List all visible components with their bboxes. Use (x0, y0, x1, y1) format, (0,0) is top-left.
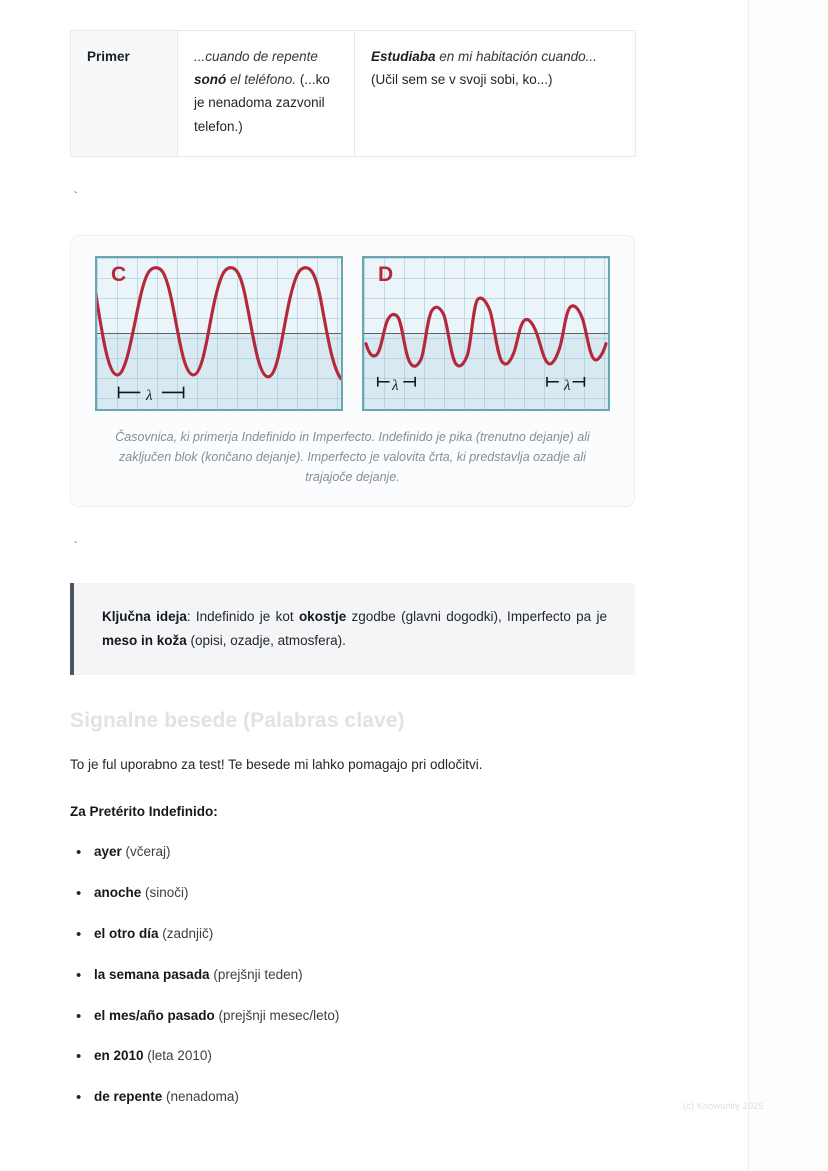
signal-words-list: ayer (včeraj) anoche (sinoči) el otro dí… (70, 842, 636, 1108)
list-item: el otro día (zadnjič) (70, 924, 636, 945)
list-item: de repente (nenadoma) (70, 1087, 636, 1108)
example-imperfecto-es: en mi habitación cuando... (436, 49, 597, 64)
signal-gloss: (včeraj) (122, 844, 171, 859)
figure-card: C λ D λ λ (70, 235, 635, 507)
signal-term: el mes/año pasado (94, 1008, 215, 1023)
stray-backtick-second: ` (72, 541, 636, 553)
highlight-sono: sonó (194, 72, 226, 87)
document-content: Primer ...cuando de repente sonó el telé… (0, 0, 748, 1128)
key-idea-text-1: : Indefinido je kot (187, 609, 299, 624)
key-idea-label: Ključna ideja (102, 609, 187, 624)
table-body: Primer ...cuando de repente sonó el telé… (71, 31, 636, 157)
panel-d-waveform (366, 298, 606, 366)
wave-panel-c: C λ (95, 256, 343, 411)
list-item: en 2010 (leta 2010) (70, 1046, 636, 1067)
signal-term: el otro día (94, 926, 159, 941)
section-title: Signalne besede (Palabras clave) (70, 707, 636, 734)
example-imperfecto-sl: (Učil sem se v svoji sobi, ko...) (371, 72, 553, 87)
signal-term: la semana pasada (94, 967, 210, 982)
table-row: Primer ...cuando de repente sonó el telé… (71, 31, 636, 157)
panel-d-lambda-symbol-left: λ (392, 379, 399, 394)
wave-panel-d: D λ λ (362, 256, 610, 411)
signal-gloss: (prejšnji mesec/leto) (215, 1008, 340, 1023)
wave-panels: C λ D λ λ (95, 256, 610, 411)
signal-gloss: (sinoči) (141, 885, 188, 900)
list-item: la semana pasada (prejšnji teden) (70, 965, 636, 986)
key-idea-emph-1: okostje (299, 609, 346, 624)
signal-words-subhead: Za Pretérito Indefinido: (70, 801, 636, 824)
page-gutter (748, 0, 828, 1171)
key-idea-text-2: zgodbe (glavni dogodki), Imperfecto pa j… (346, 609, 607, 624)
section-intro: To je ful uporabno za test! Te besede mi… (70, 754, 636, 777)
list-item: anoche (sinoči) (70, 883, 636, 904)
signal-gloss: (nenadoma) (162, 1089, 239, 1104)
highlight-estudiaba: Estudiaba (371, 49, 436, 64)
signal-gloss: (leta 2010) (144, 1048, 212, 1063)
panel-d-wave-svg (364, 258, 608, 409)
signal-term: de repente (94, 1089, 162, 1104)
panel-c-lambda-symbol: λ (146, 389, 153, 404)
panel-c-wave-svg (97, 258, 341, 409)
signal-gloss: (prejšnji teden) (210, 967, 303, 982)
table-row-label: Primer (71, 31, 178, 157)
comparison-table: Primer ...cuando de repente sonó el telé… (70, 30, 636, 157)
signal-term: ayer (94, 844, 122, 859)
panel-c-waveform (97, 268, 341, 379)
figure-caption: Časovnica, ki primerja Indefinido in Imp… (95, 427, 610, 488)
stray-backtick-first: ` (72, 191, 636, 203)
list-item: ayer (včeraj) (70, 842, 636, 863)
table-cell-imperfecto: Estudiaba en mi habitación cuando... (Uč… (355, 31, 636, 157)
table-cell-indefinido: ...cuando de repente sonó el teléfono. (… (178, 31, 355, 157)
key-idea-emph-2: meso in koža (102, 633, 187, 648)
signal-term: anoche (94, 885, 141, 900)
list-item: el mes/año pasado (prejšnji mesec/leto) (70, 1006, 636, 1027)
signal-term: en 2010 (94, 1048, 144, 1063)
document-page: Primer ...cuando de repente sonó el telé… (0, 0, 828, 1171)
panel-d-lambda-symbol-right: λ (564, 379, 571, 394)
footer-watermark: (c) Knowunity 2025 (683, 1101, 764, 1111)
signal-gloss: (zadnjič) (159, 926, 214, 941)
key-idea-text-3: (opisi, ozadje, atmosfera). (187, 633, 346, 648)
key-idea-callout: Ključna ideja: Indefinido je kot okostje… (70, 583, 635, 675)
